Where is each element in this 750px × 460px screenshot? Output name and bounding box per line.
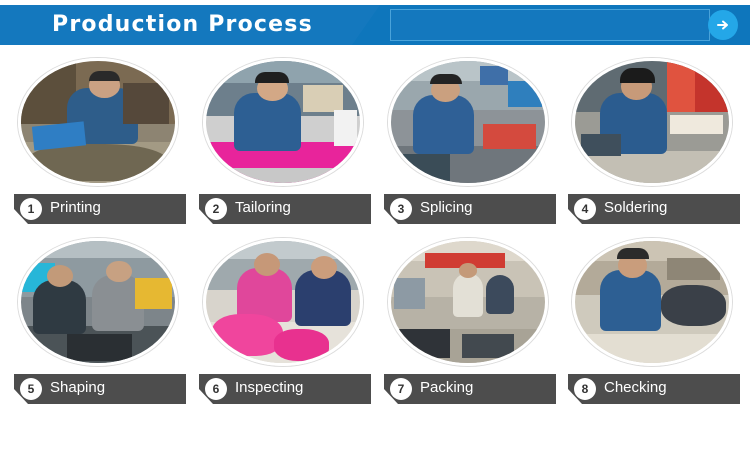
step-photo-soldering — [572, 58, 732, 186]
step-name-3: Splicing — [420, 199, 473, 216]
step-number-2: 2 — [205, 198, 227, 220]
step-name-4: Soldering — [604, 199, 667, 216]
photo-scene — [575, 241, 729, 363]
step-number-7: 7 — [390, 378, 412, 400]
process-step-4[interactable]: 4 Soldering — [562, 58, 742, 228]
process-step-3[interactable]: 3 Splicing — [378, 58, 558, 228]
step-label-2: 2 Tailoring — [199, 194, 371, 224]
process-step-6[interactable]: 6 Inspecting — [193, 238, 373, 408]
step-label-7: 7 Packing — [384, 374, 556, 404]
photo-scene — [206, 61, 360, 183]
step-label-3: 3 Splicing — [384, 194, 556, 224]
process-steps-grid: 1 Printing 2 Tailoring — [0, 52, 750, 412]
process-step-8[interactable]: 8 Checking — [562, 238, 742, 408]
arrow-right-icon[interactable] — [708, 10, 738, 40]
step-label-4: 4 Soldering — [568, 194, 740, 224]
step-photo-printing — [18, 58, 178, 186]
step-name-2: Tailoring — [235, 199, 291, 216]
step-label-8: 8 Checking — [568, 374, 740, 404]
step-photo-inspecting — [203, 238, 363, 366]
step-number-3: 3 — [390, 198, 412, 220]
step-label-1: 1 Printing — [14, 194, 186, 224]
photo-scene — [21, 61, 175, 183]
step-number-4: 4 — [574, 198, 596, 220]
photo-scene — [391, 241, 545, 363]
step-name-5: Shaping — [50, 379, 105, 396]
photo-scene — [575, 61, 729, 183]
step-photo-checking — [572, 238, 732, 366]
step-photo-shaping — [18, 238, 178, 366]
page-title: Production Process — [52, 12, 313, 37]
step-name-7: Packing — [420, 379, 473, 396]
step-name-6: Inspecting — [235, 379, 303, 396]
process-step-5[interactable]: 5 Shaping — [8, 238, 188, 408]
step-label-6: 6 Inspecting — [199, 374, 371, 404]
step-number-5: 5 — [20, 378, 42, 400]
photo-scene — [21, 241, 175, 363]
page-header: Production Process — [0, 0, 750, 50]
step-name-8: Checking — [604, 379, 667, 396]
process-step-1[interactable]: 1 Printing — [8, 58, 188, 228]
step-number-8: 8 — [574, 378, 596, 400]
step-photo-tailoring — [203, 58, 363, 186]
photo-scene — [391, 61, 545, 183]
process-step-7[interactable]: 7 Packing — [378, 238, 558, 408]
step-number-6: 6 — [205, 378, 227, 400]
process-step-2[interactable]: 2 Tailoring — [193, 58, 373, 228]
step-label-5: 5 Shaping — [14, 374, 186, 404]
step-name-1: Printing — [50, 199, 101, 216]
header-right-strip — [390, 9, 710, 41]
step-number-1: 1 — [20, 198, 42, 220]
step-photo-splicing — [388, 58, 548, 186]
step-photo-packing — [388, 238, 548, 366]
photo-scene — [206, 241, 360, 363]
